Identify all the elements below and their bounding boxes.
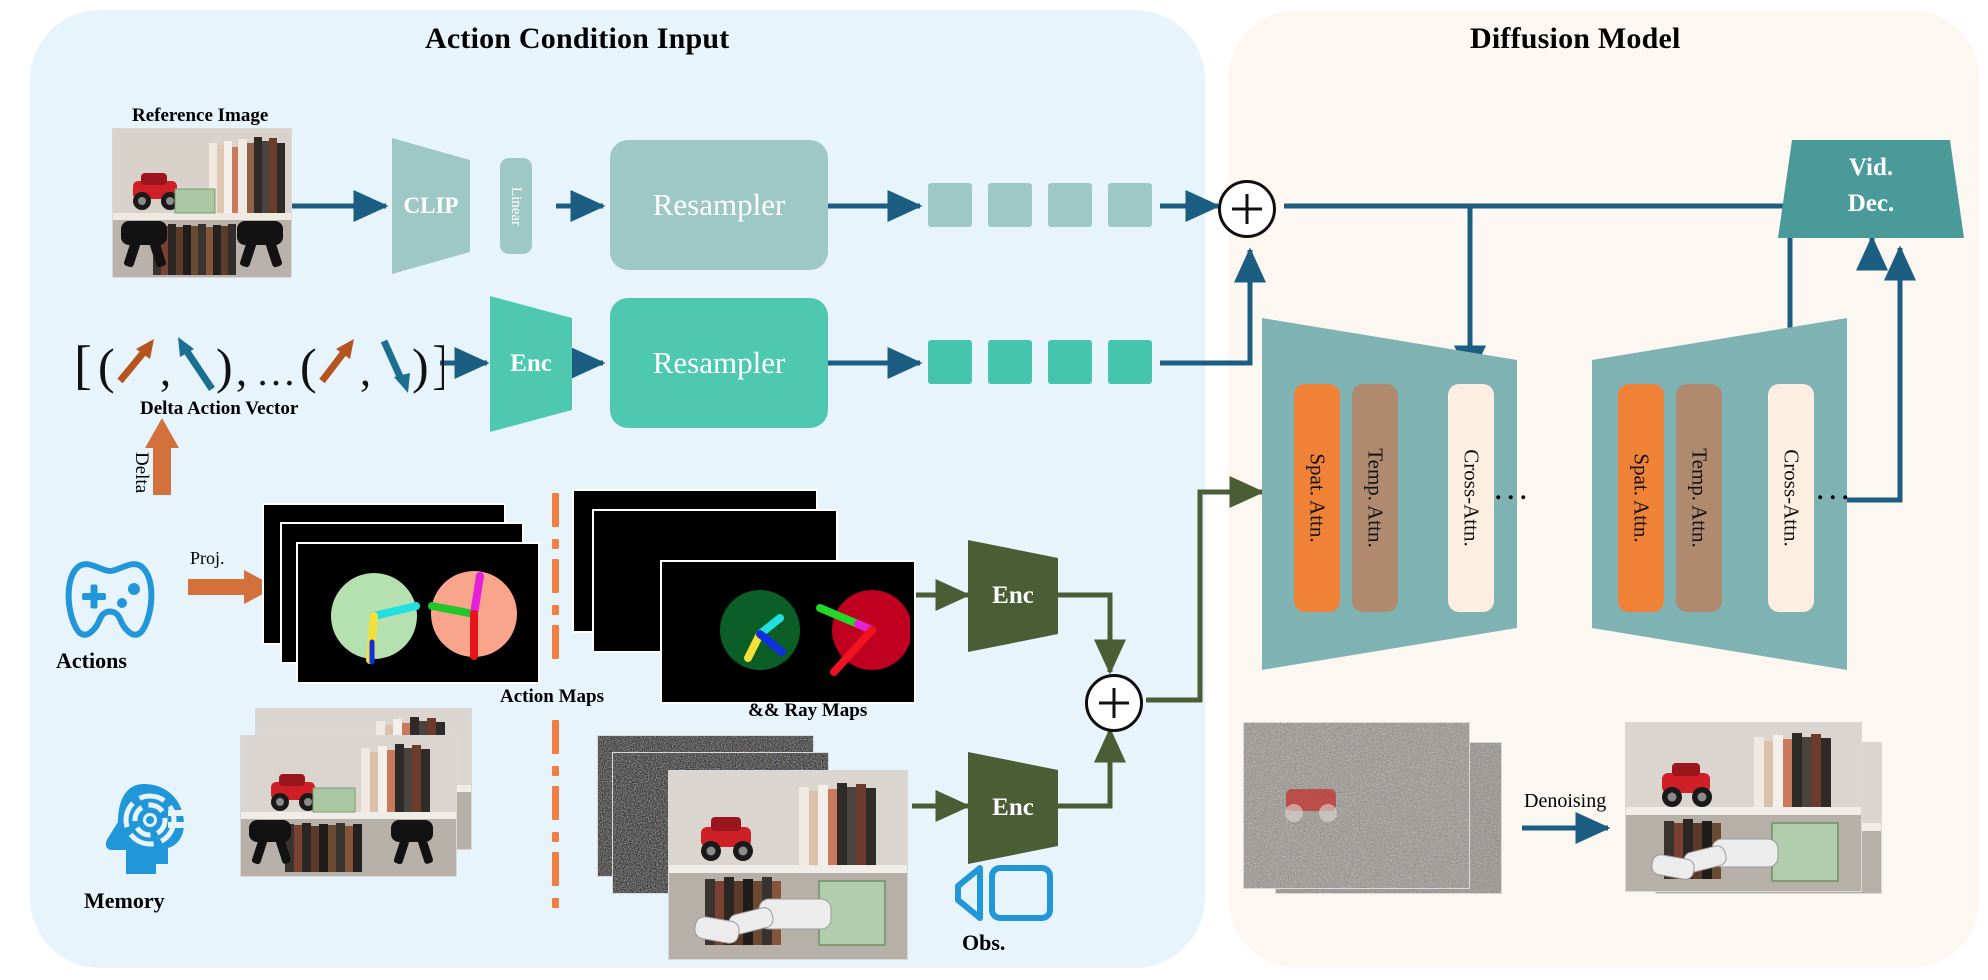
unet2-spat-attn-label: Spat. Attn. — [1629, 453, 1654, 542]
sum-operator-conditioning — [1218, 180, 1276, 238]
divider-dashdot-bottom — [552, 720, 559, 930]
svg-text:[: [ — [74, 335, 92, 395]
unet1-cross-attn-label: Cross-Attn. — [1459, 449, 1484, 546]
linear-layer: Linear — [500, 158, 532, 254]
unet2-cross-attn-label: Cross-Attn. — [1779, 449, 1804, 546]
resampler-action: Resampler — [610, 298, 828, 428]
obs-label: Obs. — [962, 930, 1005, 956]
brain-head-icon — [98, 778, 192, 878]
obs-encoder: Enc — [968, 752, 1058, 864]
camera-icon — [950, 862, 1060, 924]
obs-clean-frame — [668, 770, 908, 960]
action-token-3 — [1048, 340, 1092, 384]
resampler-label-image: Resampler — [653, 187, 786, 223]
reference-image-label: Reference Image — [132, 105, 268, 127]
video-decoder: Vid. Dec. — [1778, 140, 1964, 238]
unet2-cross-attn-pill: Cross-Attn. — [1768, 384, 1814, 612]
image-token-1 — [928, 183, 972, 227]
reference-image-photo — [112, 128, 292, 278]
svg-text:,: , — [360, 346, 371, 395]
clip-encoder: CLIP — [392, 138, 470, 274]
unet1-cross-attn-pill: Cross-Attn. — [1448, 384, 1494, 612]
action-token-4 — [1108, 340, 1152, 384]
action-map-front — [296, 542, 540, 684]
image-token-2 — [988, 183, 1032, 227]
memory-photo-front — [240, 735, 457, 877]
svg-text:(: ( — [300, 338, 317, 394]
delta-label: Delta — [130, 452, 152, 493]
ray-map-front — [660, 560, 916, 704]
svg-text:,: , — [236, 346, 247, 395]
actions-label: Actions — [56, 648, 127, 674]
svg-text:]: ] — [432, 335, 444, 395]
denoising-label: Denoising — [1524, 790, 1606, 813]
unet1-spat-attn-pill: Spat. Attn. — [1294, 384, 1340, 612]
resampler-label-action: Resampler — [653, 345, 786, 381]
image-token-4 — [1108, 183, 1152, 227]
unet1-temp-attn-pill: Temp. Attn. — [1352, 384, 1398, 612]
action-vector-encoder: Enc — [490, 296, 572, 432]
clip-label: CLIP — [392, 193, 470, 219]
enc-label-action: Enc — [490, 350, 572, 378]
vid-dec-label-line1: Vid. — [1778, 154, 1964, 182]
svg-text:): ) — [216, 338, 233, 394]
action-token-2 — [988, 340, 1032, 384]
svg-text:(: ( — [98, 338, 115, 394]
page-title-action-condition: Action Condition Input — [425, 22, 730, 56]
denoise-output-front — [1625, 722, 1862, 892]
unet1-spat-attn-label: Spat. Attn. — [1305, 453, 1330, 542]
svg-text:): ) — [412, 338, 429, 394]
proj-label: Proj. — [190, 548, 225, 569]
unet2-temp-attn-label: Temp. Attn. — [1687, 448, 1712, 547]
unet1-ellipsis: ... — [1494, 470, 1532, 508]
unet2-spat-attn-pill: Spat. Attn. — [1618, 384, 1664, 612]
unet1-temp-attn-label: Temp. Attn. — [1363, 448, 1388, 547]
delta-action-vector-label: Delta Action Vector — [140, 398, 298, 420]
action-map-encoder: Enc — [968, 540, 1058, 652]
page-title-diffusion-model: Diffusion Model — [1470, 22, 1681, 56]
image-token-3 — [1048, 183, 1092, 227]
unet2-ellipsis: ... — [1816, 470, 1854, 508]
svg-text:,: , — [160, 346, 171, 395]
ray-maps-label: && Ray Maps — [748, 700, 867, 722]
linear-label: Linear — [508, 186, 525, 225]
unet2-temp-attn-pill: Temp. Attn. — [1676, 384, 1722, 612]
enc-label-maps: Enc — [968, 582, 1058, 610]
denoise-input-front — [1243, 722, 1470, 889]
resampler-image: Resampler — [610, 140, 828, 270]
memory-label: Memory — [84, 888, 165, 914]
delta-action-vector-expression: [ ( , ) , … ( , ) ] — [72, 325, 444, 405]
action-token-1 — [928, 340, 972, 384]
divider-dashdot-top — [552, 493, 559, 693]
sum-operator-latent — [1085, 674, 1143, 732]
svg-text:…: … — [256, 349, 296, 394]
gamepad-icon — [52, 555, 168, 643]
enc-label-obs: Enc — [968, 794, 1058, 822]
vid-dec-label-line2: Dec. — [1778, 190, 1964, 218]
